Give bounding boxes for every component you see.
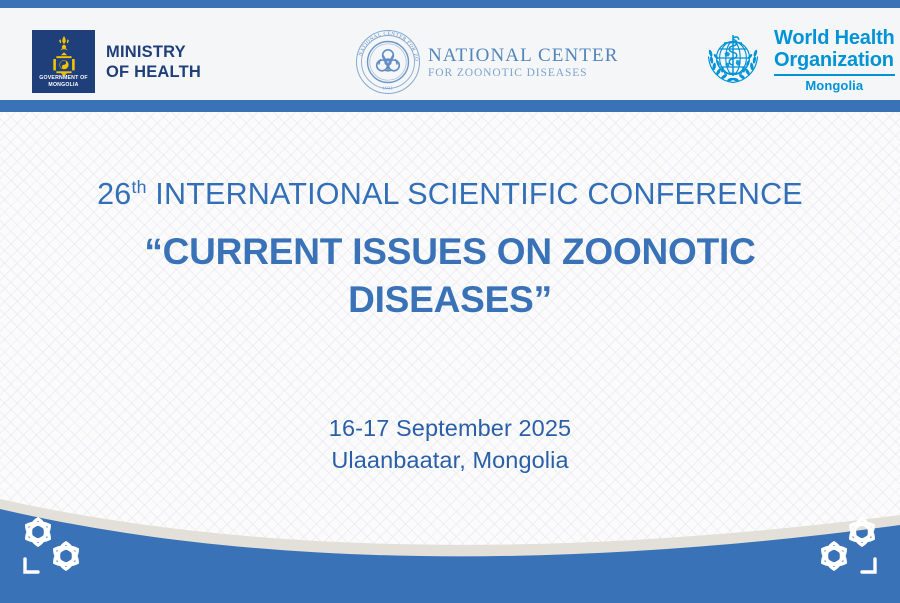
top-accent-rule — [0, 0, 900, 8]
ministry-of-health-name: MINISTRY OF HEALTH — [106, 42, 201, 82]
who-country-label: Mongolia — [774, 78, 895, 93]
nczd-name-line2: FOR ZOONOTIC DISEASES — [428, 66, 618, 80]
headline-block: 26th INTERNATIONAL SCIENTIFIC CONFERENCE… — [0, 174, 900, 324]
triquetra-ornament-right-icon — [800, 513, 884, 577]
conference-title-slide: GOVERNMENT OF MONGOLIA MINISTRY OF HEALT… — [0, 0, 900, 603]
who-name-line2: Organization — [774, 50, 895, 72]
national-center-zoonotic-diseases-logo: NATIONAL CENTER FOR ZOONOTIC DISEASES 19… — [352, 26, 618, 98]
who-name: World Health Organization Mongolia — [774, 28, 895, 93]
emblem-caption: GOVERNMENT OF MONGOLIA — [32, 75, 95, 89]
nczd-name: NATIONAL CENTER FOR ZOONOTIC DISEASES — [428, 45, 618, 80]
who-emblem-icon — [700, 29, 766, 91]
who-mongolia-logo: World Health Organization Mongolia — [700, 28, 895, 93]
triquetra-ornament-left-icon — [16, 513, 100, 577]
conference-title-line: 26th INTERNATIONAL SCIENTIFIC CONFERENCE — [0, 174, 900, 214]
conference-ordinal-suffix: th — [131, 177, 146, 197]
header-bottom-rule — [0, 100, 900, 112]
nczd-seal-icon: NATIONAL CENTER FOR ZOONOTIC DISEASES 19… — [352, 26, 424, 98]
seal-year: 1931 — [383, 86, 394, 91]
event-dates: 16-17 September 2025 — [0, 412, 900, 444]
conference-number: 26 — [97, 177, 131, 211]
ministry-name-line1: MINISTRY — [106, 42, 201, 62]
conference-title-text: INTERNATIONAL SCIENTIFIC CONFERENCE — [147, 177, 803, 211]
ministry-name-line2: OF HEALTH — [106, 62, 201, 82]
soyombo-symbol-icon — [47, 35, 81, 77]
who-name-line1: World Health — [774, 28, 895, 50]
mongolia-state-emblem-icon: GOVERNMENT OF MONGOLIA — [32, 30, 95, 93]
bottom-wave-decoration — [0, 463, 900, 603]
page-title: “CURRENT ISSUES ON ZOONOTIC DISEASES” — [0, 228, 900, 324]
nczd-name-line1: NATIONAL CENTER — [428, 45, 618, 66]
header-logo-band: GOVERNMENT OF MONGOLIA MINISTRY OF HEALT… — [0, 8, 900, 100]
who-divider — [774, 74, 895, 76]
ministry-of-health-logo: GOVERNMENT OF MONGOLIA MINISTRY OF HEALT… — [32, 30, 201, 93]
